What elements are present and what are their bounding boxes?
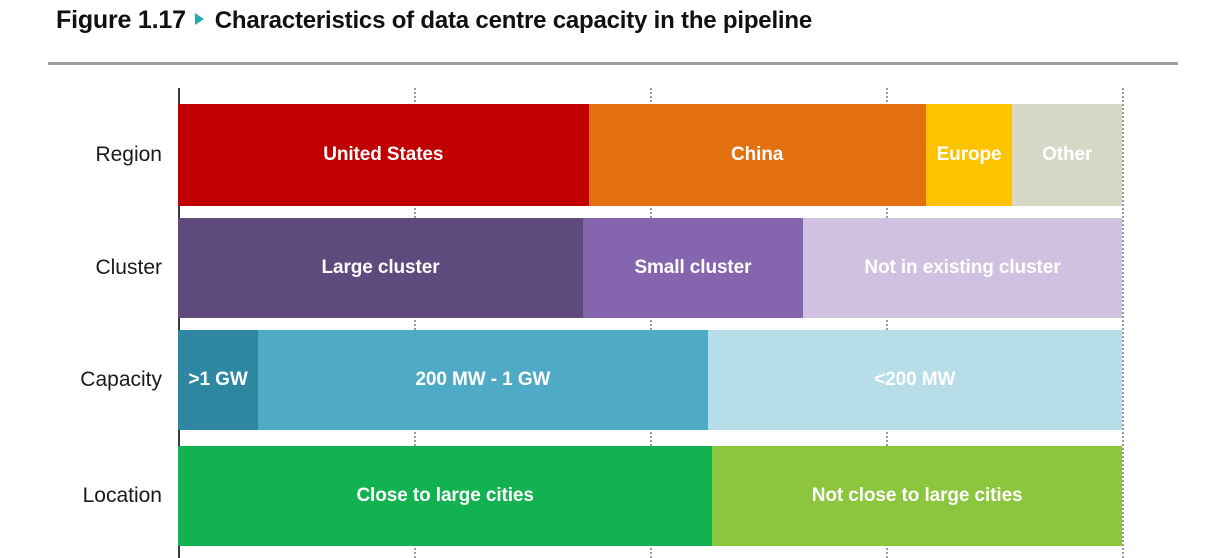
bar-segment[interactable]: Europe <box>926 104 1013 206</box>
category-label-cluster: Cluster <box>0 218 162 318</box>
figure-title: Figure 1.17 Characteristics of data cent… <box>56 6 812 35</box>
bar-segment[interactable]: United States <box>178 104 589 206</box>
bar-segment[interactable]: >1 GW <box>178 330 258 430</box>
bar-segment-label: Large cluster <box>321 257 439 279</box>
bar-segment[interactable]: Large cluster <box>178 218 583 318</box>
bar-segment[interactable]: Not close to large cities <box>712 446 1122 546</box>
bar-segment[interactable]: Not in existing cluster <box>803 218 1122 318</box>
category-label-region: Region <box>0 104 162 206</box>
figure-number: Figure 1.17 <box>56 6 186 35</box>
bar-segment-label: Small cluster <box>634 257 751 279</box>
bar-segment-label: 200 MW - 1 GW <box>415 369 550 391</box>
bar-segment[interactable]: Close to large cities <box>178 446 712 546</box>
figure-page: Figure 1.17 Characteristics of data cent… <box>0 0 1220 558</box>
bar-segment[interactable]: <200 MW <box>708 330 1122 430</box>
chart-plot-area: RegionUnited StatesChinaEuropeOtherClust… <box>0 88 1220 558</box>
stacked-bar-location: Close to large citiesNot close to large … <box>178 446 1122 546</box>
stacked-bar-region: United StatesChinaEuropeOther <box>178 104 1122 206</box>
category-label-capacity: Capacity <box>0 330 162 430</box>
bar-segment-label: China <box>731 144 783 166</box>
bar-segment-label: United States <box>323 144 443 166</box>
stacked-bar-cluster: Large clusterSmall clusterNot in existin… <box>178 218 1122 318</box>
bar-segment-label: Not close to large cities <box>812 485 1023 507</box>
bar-segment-label: <200 MW <box>874 369 955 391</box>
bar-segment[interactable]: China <box>589 104 926 206</box>
triangle-right-icon <box>195 13 204 25</box>
stacked-bar-capacity: >1 GW200 MW - 1 GW<200 MW <box>178 330 1122 430</box>
bar-segment[interactable]: Other <box>1012 104 1122 206</box>
bar-row-cluster: ClusterLarge clusterSmall clusterNot in … <box>0 218 1220 318</box>
bar-segment-label: Not in existing cluster <box>864 257 1060 279</box>
bar-segment-label: >1 GW <box>189 369 248 391</box>
category-label-location: Location <box>0 446 162 546</box>
bar-segment[interactable]: 200 MW - 1 GW <box>258 330 707 430</box>
bar-segment-label: Close to large cities <box>356 485 533 507</box>
bar-segment-label: Europe <box>937 144 1002 166</box>
bar-segment[interactable]: Small cluster <box>583 218 803 318</box>
bar-row-region: RegionUnited StatesChinaEuropeOther <box>0 104 1220 206</box>
bar-row-capacity: Capacity>1 GW200 MW - 1 GW<200 MW <box>0 330 1220 430</box>
bar-rows: RegionUnited StatesChinaEuropeOtherClust… <box>0 88 1220 558</box>
bar-segment-label: Other <box>1042 144 1092 166</box>
figure-caption: Characteristics of data centre capacity … <box>215 7 812 35</box>
bar-row-location: LocationClose to large citiesNot close t… <box>0 446 1220 546</box>
figure-header: Figure 1.17 Characteristics of data cent… <box>0 0 1220 68</box>
header-divider <box>48 62 1178 65</box>
